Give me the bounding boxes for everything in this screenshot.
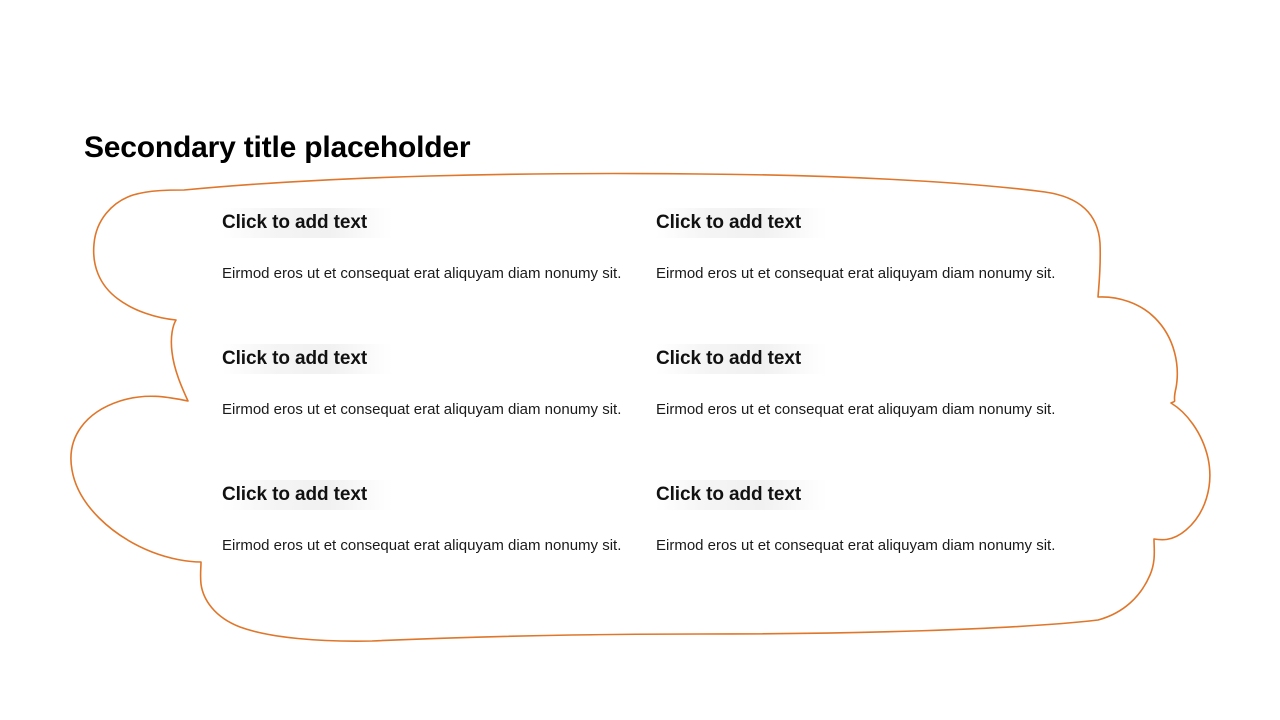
content-cell[interactable]: Click to add text Eirmod eros ut et cons… bbox=[656, 344, 1060, 480]
cell-heading[interactable]: Click to add text bbox=[656, 480, 827, 510]
content-cell[interactable]: Click to add text Eirmod eros ut et cons… bbox=[656, 208, 1060, 344]
cell-body-text[interactable]: Eirmod eros ut et consequat erat aliquya… bbox=[222, 534, 624, 557]
content-cell[interactable]: Click to add text Eirmod eros ut et cons… bbox=[222, 344, 626, 480]
page-title: Secondary title placeholder bbox=[84, 128, 470, 168]
cell-heading[interactable]: Click to add text bbox=[222, 208, 393, 238]
cell-heading[interactable]: Click to add text bbox=[656, 344, 827, 374]
content-cell[interactable]: Click to add text Eirmod eros ut et cons… bbox=[222, 480, 626, 557]
cell-body-text[interactable]: Eirmod eros ut et consequat erat aliquya… bbox=[656, 398, 1060, 421]
cell-body-text[interactable]: Eirmod eros ut et consequat erat aliquya… bbox=[656, 534, 1060, 557]
content-grid: Click to add text Eirmod eros ut et cons… bbox=[222, 208, 1062, 557]
cell-body-text[interactable]: Eirmod eros ut et consequat erat aliquya… bbox=[222, 262, 624, 285]
cell-body-text[interactable]: Eirmod eros ut et consequat erat aliquya… bbox=[656, 262, 1060, 285]
content-cell[interactable]: Click to add text Eirmod eros ut et cons… bbox=[222, 208, 626, 344]
cell-heading[interactable]: Click to add text bbox=[222, 480, 393, 510]
content-cell[interactable]: Click to add text Eirmod eros ut et cons… bbox=[656, 480, 1060, 557]
cell-heading[interactable]: Click to add text bbox=[222, 344, 393, 374]
cell-body-text[interactable]: Eirmod eros ut et consequat erat aliquya… bbox=[222, 398, 624, 421]
cell-heading[interactable]: Click to add text bbox=[656, 208, 827, 238]
